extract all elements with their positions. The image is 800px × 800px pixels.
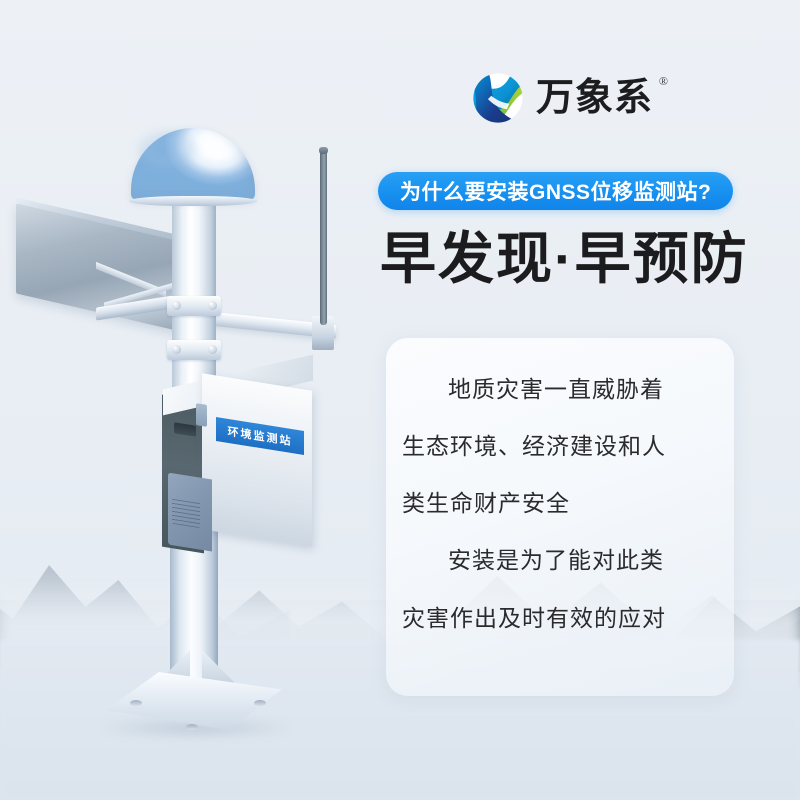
question-banner-pill: 为什么要安装GNSS位移监测站? xyxy=(378,172,733,210)
gnss-antenna-dome-rim xyxy=(129,196,257,206)
base-bolt-hole-3 xyxy=(186,724,198,730)
description-line: 安装是为了能对此类 xyxy=(402,547,718,574)
brand-name: 万象系 ® xyxy=(536,79,653,117)
registered-trademark-icon: ® xyxy=(659,75,669,87)
gnss-station-illustration: 环境监测站 xyxy=(0,0,400,800)
brand-name-text: 万象系 xyxy=(536,77,653,119)
description-line: 地质灾害一直威胁着 xyxy=(402,376,718,403)
brand-lockup: 万象系 ® xyxy=(470,62,700,134)
whip-antenna-cap xyxy=(319,147,328,154)
question-banner-label: 为什么要安装GNSS位移监测站? xyxy=(400,176,711,206)
collar-bolt-2 xyxy=(208,301,217,310)
globe-swirl-icon xyxy=(470,70,526,126)
description-line: 生态环境、经济建设和人 xyxy=(402,433,718,460)
collar-bolt-4 xyxy=(208,345,217,354)
whip-antenna-rod xyxy=(320,150,327,325)
enclosure-grille xyxy=(172,498,200,528)
description-line: 灾害作出及时有效的应对 xyxy=(402,605,718,632)
collar-bolt-3 xyxy=(172,345,181,354)
base-bolt-hole-1 xyxy=(130,700,142,706)
description-text-block: 地质灾害一直威胁着 生态环境、经济建设和人 类生命财产安全 安装是为了能对此类 … xyxy=(386,338,734,696)
base-bolt-hole-2 xyxy=(254,700,266,706)
enclosure-clip-upper xyxy=(196,403,207,427)
description-line: 类生命财产安全 xyxy=(402,490,718,517)
control-enclosure-box xyxy=(202,373,312,546)
poster-canvas: 环境监测站 xyxy=(0,0,800,800)
gnss-antenna-dome xyxy=(131,128,255,200)
page-title: 早发现·早预防 xyxy=(380,228,800,290)
collar-bolt-1 xyxy=(172,301,181,310)
